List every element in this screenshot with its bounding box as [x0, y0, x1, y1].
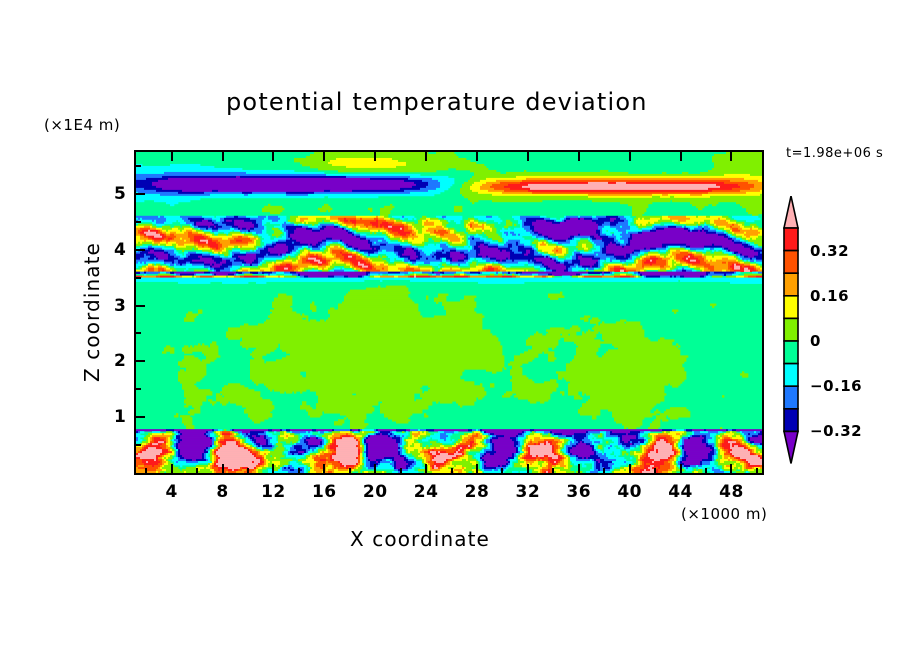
colorbar-under-arrow	[784, 431, 798, 463]
x-axis-tick-label: 28	[465, 482, 490, 502]
x-axis-tick-label: 24	[414, 482, 439, 502]
x-axis-minor-tick	[501, 468, 503, 473]
y-axis-minor-tick	[136, 332, 141, 334]
x-axis-tick	[323, 464, 325, 473]
x-axis-minor-tick	[705, 468, 707, 473]
x-axis-title: X coordinate	[350, 527, 490, 551]
y-axis-tick-label: 3	[114, 296, 126, 316]
x-axis-minor-tick	[756, 468, 758, 473]
y-axis-minor-tick	[136, 221, 141, 223]
y-axis-tick	[136, 416, 145, 418]
y-axis-tick-label: 5	[114, 184, 126, 204]
x-axis-minor-tick	[298, 468, 300, 473]
x-axis-minor-tick	[400, 468, 402, 473]
y-axis-minor-tick	[136, 165, 141, 167]
x-axis-tick	[374, 464, 376, 473]
colorbar-swatch	[784, 228, 798, 251]
colorbar-tick-label: 0.32	[810, 242, 849, 260]
colorbar-tick-label: 0	[810, 332, 821, 350]
x-axis-tick	[222, 464, 224, 473]
x-axis-tick-top	[527, 152, 529, 161]
colorbar-tick-label: 0.16	[810, 287, 849, 305]
x-axis-minor-tick	[552, 468, 554, 473]
contour-plot-field	[136, 152, 762, 473]
colorbar-tick-label: −0.32	[810, 422, 862, 440]
y-axis-title: Z coordinate	[80, 212, 104, 412]
x-axis-tick	[476, 464, 478, 473]
y-axis-tick	[136, 249, 145, 251]
x-axis-minor-tick	[603, 468, 605, 473]
x-axis-tick-top	[578, 152, 580, 161]
colorbar-swatch	[784, 251, 798, 274]
x-axis-tick-label: 44	[668, 482, 693, 502]
x-axis-tick-top	[476, 152, 478, 161]
x-axis-tick-label: 48	[719, 482, 744, 502]
x-axis-tick	[425, 464, 427, 473]
x-axis-minor-tick	[349, 468, 351, 473]
y-axis-tick-label: 1	[114, 407, 126, 427]
x-axis-unit-label: (×1000 m)	[681, 505, 767, 523]
x-axis-tick-top	[171, 152, 173, 161]
colorbar-over-arrow	[784, 196, 798, 228]
x-axis-tick-top	[425, 152, 427, 161]
figure-canvas: potential temperature deviation (×1E4 m)…	[0, 0, 904, 654]
x-axis-minor-tick	[196, 468, 198, 473]
x-axis-minor-tick	[145, 468, 147, 473]
x-axis-tick	[272, 464, 274, 473]
colorbar-swatch	[784, 318, 798, 341]
x-axis-tick-label: 20	[363, 482, 388, 502]
colorbar-tick-label: −0.16	[810, 377, 862, 395]
x-axis-minor-tick	[451, 468, 453, 473]
time-annotation: t=1.98e+06 s	[786, 146, 883, 161]
x-axis-minor-tick	[654, 468, 656, 473]
x-axis-tick	[527, 464, 529, 473]
y-axis-minor-tick	[136, 277, 141, 279]
x-axis-tick-label: 4	[165, 482, 177, 502]
x-axis-tick	[680, 464, 682, 473]
page-title: potential temperature deviation	[226, 88, 648, 116]
heatmap-svg	[136, 152, 762, 473]
colorbar-swatch	[784, 364, 798, 387]
colorbar-swatch	[784, 409, 798, 432]
colorbar-swatch	[784, 386, 798, 409]
x-axis-tick	[171, 464, 173, 473]
x-axis-tick-top	[680, 152, 682, 161]
x-axis-tick-label: 16	[312, 482, 337, 502]
x-axis-tick-top	[323, 152, 325, 161]
x-axis-tick-label: 32	[516, 482, 541, 502]
x-axis-tick-top	[629, 152, 631, 161]
y-axis-unit-label: (×1E4 m)	[44, 116, 120, 134]
x-axis-tick	[730, 464, 732, 473]
y-axis-tick-label: 2	[114, 351, 126, 371]
x-axis-tick-label: 36	[566, 482, 591, 502]
x-axis-tick-top	[222, 152, 224, 161]
x-axis-minor-tick	[247, 468, 249, 473]
y-axis-tick	[136, 360, 145, 362]
colorbar-swatch	[784, 341, 798, 364]
x-axis-tick-label: 8	[216, 482, 228, 502]
y-axis-minor-tick	[136, 444, 141, 446]
x-axis-tick-top	[272, 152, 274, 161]
x-axis-tick-label: 12	[261, 482, 286, 502]
x-axis-tick	[629, 464, 631, 473]
colorbar-swatch	[784, 296, 798, 319]
colorbar-swatch	[784, 273, 798, 296]
x-axis-tick-top	[730, 152, 732, 161]
y-axis-tick-label: 4	[114, 240, 126, 260]
y-axis-tick	[136, 305, 145, 307]
x-axis-tick-label: 40	[617, 482, 642, 502]
y-axis-minor-tick	[136, 388, 141, 390]
colorbar-svg	[779, 196, 803, 516]
y-axis-tick	[136, 193, 145, 195]
x-axis-tick-top	[374, 152, 376, 161]
colorbar	[779, 196, 803, 516]
x-axis-tick	[578, 464, 580, 473]
